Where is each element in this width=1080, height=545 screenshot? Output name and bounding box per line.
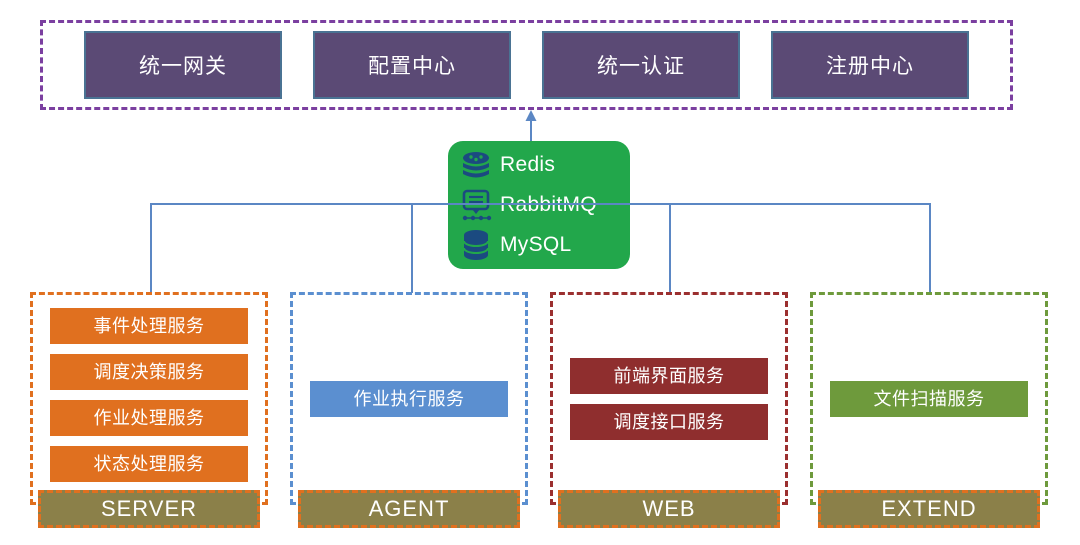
platform-box-label: 统一认证 (597, 50, 685, 80)
service-columns: 事件处理服务 调度决策服务 作业处理服务 状态处理服务 SERVER (0, 292, 1080, 545)
layers-stack-icon (458, 148, 494, 182)
platform-box-unified-auth[interactable]: 统一认证 (542, 31, 740, 99)
column-label-text: EXTEND (881, 496, 976, 522)
column-label-text: WEB (642, 496, 695, 522)
service-box[interactable]: 前端界面服务 (570, 358, 768, 394)
message-queue-icon (458, 188, 494, 222)
column-services-agent: 作业执行服务 (290, 292, 528, 505)
service-label: 作业执行服务 (354, 389, 465, 409)
connector-middleware-right-stub (630, 203, 650, 205)
service-box[interactable]: 作业处理服务 (50, 400, 248, 436)
column-label-web: WEB (558, 490, 780, 528)
column-label-extend: EXTEND (818, 490, 1040, 528)
service-label: 作业处理服务 (94, 408, 205, 428)
column-services-server: 事件处理服务 调度决策服务 作业处理服务 状态处理服务 (30, 292, 268, 505)
service-label: 事件处理服务 (94, 316, 205, 336)
service-label: 文件扫描服务 (874, 389, 985, 409)
middleware-label-mysql: MySQL (500, 233, 572, 257)
platform-box-label: 统一网关 (139, 50, 227, 80)
service-label: 调度决策服务 (94, 362, 205, 382)
connector-middleware-left-stub (430, 203, 448, 205)
column-label-agent: AGENT (298, 490, 520, 528)
service-box[interactable]: 文件扫描服务 (830, 381, 1028, 417)
platform-box-label: 注册中心 (826, 50, 914, 80)
architecture-diagram: 统一网关 配置中心 统一认证 注册中心 (0, 0, 1080, 545)
platform-box-unified-gateway[interactable]: 统一网关 (84, 31, 282, 99)
service-box[interactable]: 状态处理服务 (50, 446, 248, 482)
connector-drop-agent (411, 203, 413, 293)
service-box[interactable]: 事件处理服务 (50, 308, 248, 344)
service-box[interactable]: 调度接口服务 (570, 404, 768, 440)
platform-layer-panel: 统一网关 配置中心 统一认证 注册中心 (40, 20, 1013, 110)
connector-horizontal-bus (150, 203, 931, 205)
middleware-label-redis: Redis (500, 153, 555, 177)
column-label-text: SERVER (101, 496, 197, 522)
service-label: 状态处理服务 (94, 454, 205, 474)
column-services-extend: 文件扫描服务 (810, 292, 1048, 505)
middleware-label-rabbitmq: RabbitMQ (500, 193, 597, 217)
connector-drop-web (669, 203, 671, 293)
column-label-server: SERVER (38, 490, 260, 528)
platform-box-config-center[interactable]: 配置中心 (313, 31, 511, 99)
column-agent: 作业执行服务 AGENT (290, 292, 528, 545)
column-services-web: 前端界面服务 调度接口服务 (550, 292, 788, 505)
service-box[interactable]: 作业执行服务 (310, 381, 508, 417)
platform-box-registry-center[interactable]: 注册中心 (771, 31, 969, 99)
connector-drop-server (150, 203, 152, 293)
middleware-row-redis[interactable]: Redis (458, 146, 630, 184)
column-label-text: AGENT (369, 496, 450, 522)
arrow-middleware-to-platform (524, 110, 538, 144)
middleware-row-mysql[interactable]: MySQL (458, 226, 630, 264)
service-box[interactable]: 调度决策服务 (50, 354, 248, 390)
connector-drop-extend (929, 203, 931, 293)
platform-box-label: 配置中心 (368, 50, 456, 80)
column-extend: 文件扫描服务 EXTEND (810, 292, 1048, 545)
service-label: 前端界面服务 (614, 366, 725, 386)
column-server: 事件处理服务 调度决策服务 作业处理服务 状态处理服务 SERVER (30, 292, 268, 545)
database-cylinder-icon (458, 228, 494, 262)
middleware-row-rabbitmq[interactable]: RabbitMQ (458, 186, 630, 224)
column-web: 前端界面服务 调度接口服务 WEB (550, 292, 788, 545)
middleware-group: Redis RabbitMQ (448, 141, 630, 269)
service-label: 调度接口服务 (614, 412, 725, 432)
